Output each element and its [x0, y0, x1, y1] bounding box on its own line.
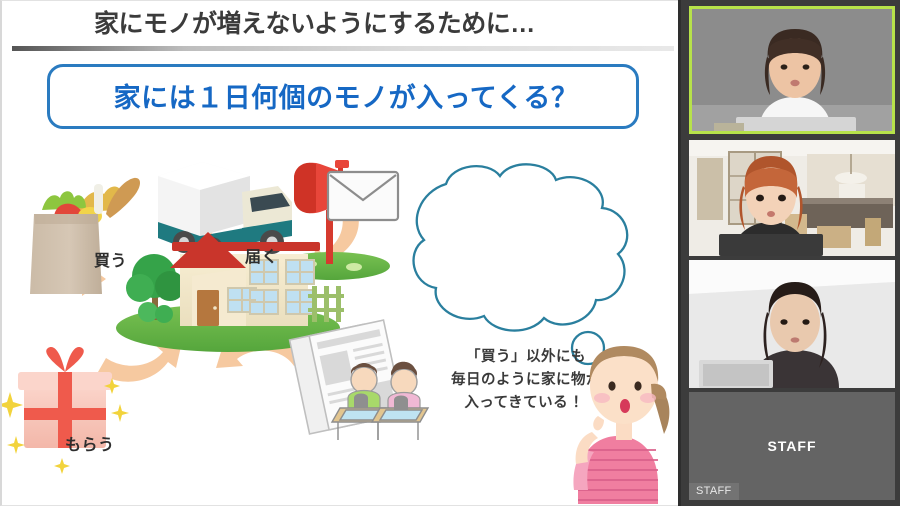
envelope-icon	[328, 172, 398, 220]
video-tile-participant-3[interactable]	[689, 260, 895, 388]
title-divider	[12, 46, 674, 51]
video-tile-participant-2[interactable]	[689, 140, 895, 256]
label-buy: 買う	[94, 247, 127, 271]
webcam-scene-3	[689, 260, 895, 388]
grocery-bag	[30, 178, 140, 294]
participant-video-panel: STAFF STAFF	[678, 0, 900, 506]
video-tile-participant-1[interactable]	[689, 6, 895, 134]
thinking-woman-illustration	[558, 324, 678, 504]
slide-title: 家にモノが増えないようにするために…	[94, 7, 614, 41]
incoming-items-diagram: 買う 届く もらう 持ち帰る 「買う」以外にも 毎日のように家に物が 入ってきて…	[2, 136, 678, 506]
video-tile-staff[interactable]: STAFF STAFF	[689, 392, 895, 500]
shared-slide: 家にモノが増えないようにするために… 家には１日何個のモノが入ってくる？	[0, 0, 678, 506]
question-callout-box: 家には１日何個のモノが入ってくる？	[47, 64, 639, 129]
person-2-figure	[689, 140, 895, 256]
webcam-scene-1	[692, 9, 892, 131]
webcam-scene-2	[689, 140, 895, 256]
screen-share-meeting-view: 家にモノが増えないようにするために… 家には１日何個のモノが入ってくる？	[0, 0, 900, 506]
person-3-figure	[689, 260, 895, 388]
person-1-figure	[692, 9, 895, 134]
staff-name-label: STAFF	[689, 483, 739, 500]
label-receive: もらう	[65, 431, 115, 455]
label-deliver: 届く	[245, 243, 278, 267]
house	[116, 232, 344, 352]
question-callout-text: 家には１日何個のモノが入ってくる？	[50, 67, 642, 132]
staff-center-label: STAFF	[689, 438, 895, 454]
